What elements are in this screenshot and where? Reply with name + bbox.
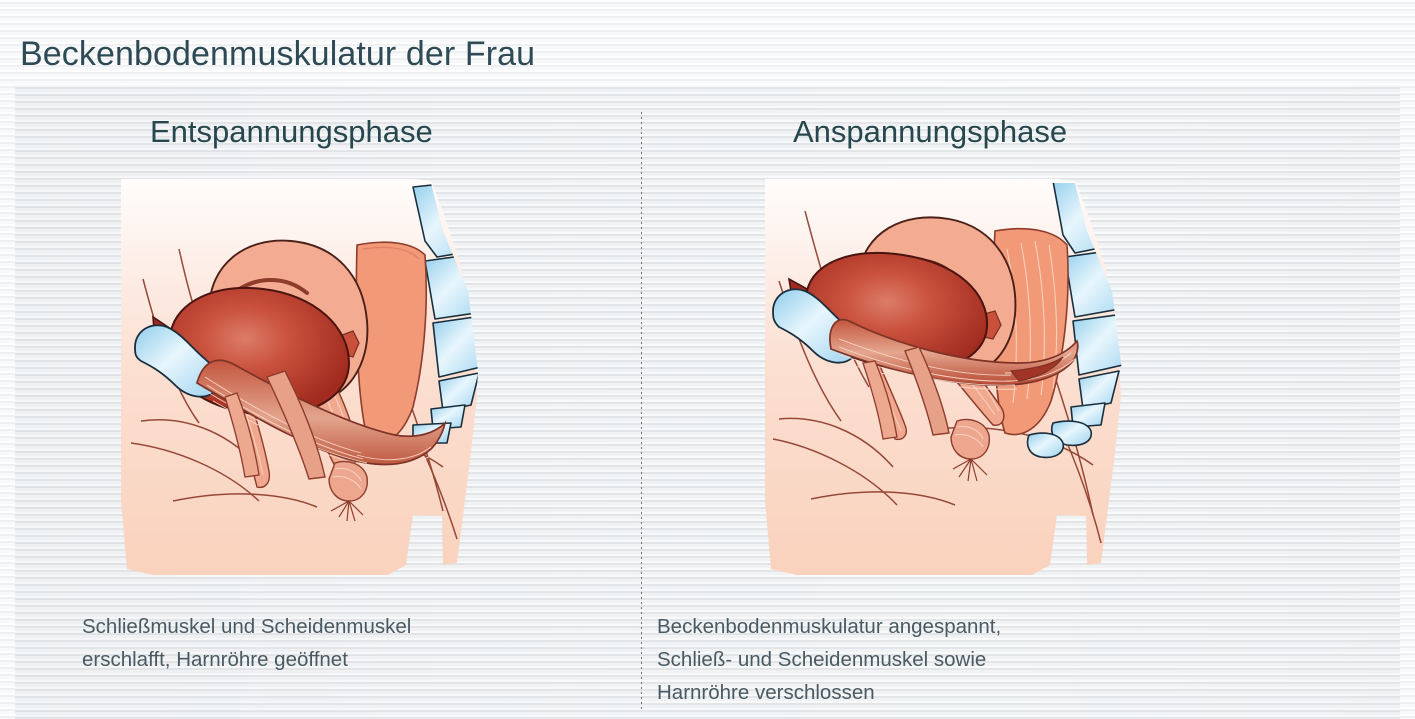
- panel-relaxation: Entspannungsphase: [15, 85, 641, 719]
- caption-contraction: Beckenbodenmuskulatur angespannt, Schlie…: [657, 610, 1197, 709]
- illustration-relaxed: [113, 171, 543, 591]
- heading-relaxation: Entspannungsphase: [150, 114, 433, 150]
- illustration-contracted: [757, 171, 1187, 591]
- caption-relaxation: Schließmuskel und Scheidenmuskel erschla…: [82, 610, 602, 676]
- page-title: Beckenbodenmuskulatur der Frau: [20, 35, 535, 74]
- panel-contraction: Anspannungsphase: [642, 85, 1400, 719]
- heading-contraction: Anspannungsphase: [793, 114, 1067, 150]
